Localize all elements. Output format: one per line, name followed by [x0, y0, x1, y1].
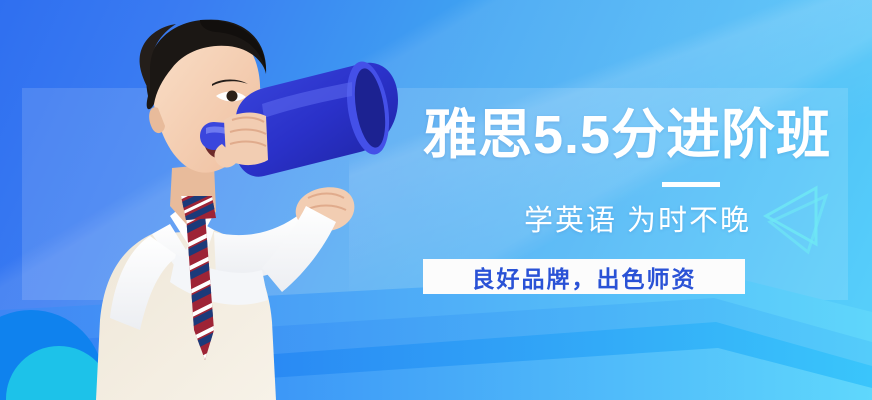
- person-with-megaphone-illustration: [0, 0, 420, 400]
- title-divider: [662, 182, 720, 187]
- feature-badge-label: 良好品牌，出色师资: [472, 260, 697, 294]
- text-block: 雅思5.5分进阶班 学英语 为时不晚 良好品牌，出色师资: [423, 104, 853, 294]
- banner-subtitle: 学英语 为时不晚: [524, 203, 853, 239]
- feature-badge: 良好品牌，出色师资: [423, 259, 745, 294]
- banner-title: 雅思5.5分进阶班: [423, 104, 853, 166]
- promo-banner: 雅思5.5分进阶班 学英语 为时不晚 良好品牌，出色师资: [0, 0, 872, 400]
